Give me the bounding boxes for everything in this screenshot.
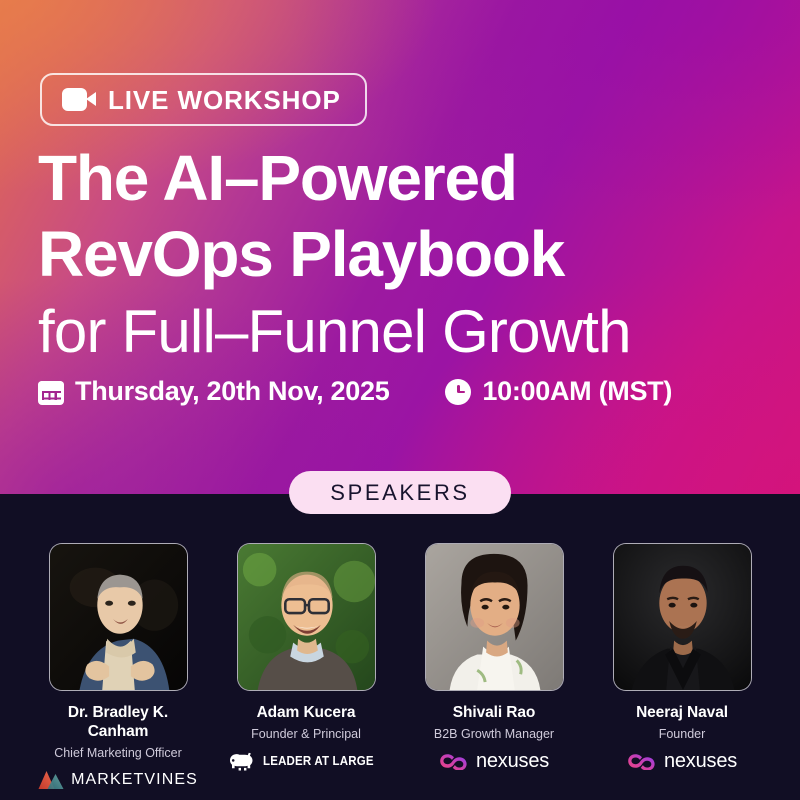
title-line-1: The AI–Powered: [38, 140, 631, 216]
speaker-name-4: Neeraj Naval: [636, 703, 728, 722]
speaker-company-logo-2: LEADER AT LARGE: [229, 749, 383, 773]
man-in-blue-blazer-speaking-image: [50, 544, 187, 690]
webinar-promo-poster: LIVE WORKSHOP The AI–Powered RevOps Play…: [0, 0, 800, 800]
event-time-label: 10:00AM (MST): [482, 378, 672, 405]
speaker-company-name-4: nexuses: [664, 751, 737, 771]
speaker-company-logo-3: nexuses: [439, 749, 549, 773]
speaker-name-3: Shivali Rao: [453, 703, 535, 722]
marketvines-mountain-icon: [38, 770, 64, 790]
speaker-company-name-2: LEADER AT LARGE: [263, 755, 374, 768]
infinity-icon: [627, 752, 657, 770]
elephant-icon: [229, 752, 256, 771]
speaker-role-4: Founder: [659, 726, 706, 742]
speaker-company-logo-1: MARKETVINES: [38, 768, 198, 792]
speaker-photo-2: [237, 543, 376, 691]
speaker-company-name-3: nexuses: [476, 751, 549, 771]
event-time: 10:00AM (MST): [445, 378, 672, 405]
speaker-company-logo-4: nexuses: [627, 749, 737, 773]
live-workshop-badge: LIVE WORKSHOP: [40, 73, 367, 126]
speaker-company-name-1: MARKETVINES: [71, 772, 198, 788]
speaker-card-1: Dr. Bradley K. Canham Chief Marketing Of…: [49, 543, 188, 792]
clock-icon: [445, 379, 471, 405]
event-date: Thursday, 20th Nov, 2025: [38, 378, 389, 405]
speaker-role-1: Chief Marketing Officer: [54, 745, 182, 761]
speaker-name-1: Dr. Bradley K. Canham: [49, 703, 188, 741]
speakers-pill: SPEAKERS: [289, 471, 511, 514]
speaker-photo-4: [613, 543, 752, 691]
speaker-card-4: Neeraj Naval Founder nexuses: [613, 543, 752, 792]
title-line-3: for Full–Funnel Growth: [38, 296, 631, 368]
infinity-icon: [439, 752, 469, 770]
speaker-photo-1: [49, 543, 188, 691]
speaker-role-2: Founder & Principal: [251, 726, 361, 742]
title-line-2: RevOps Playbook: [38, 216, 631, 292]
man-in-black-jacket-dark-background-image: [614, 544, 751, 690]
speaker-role-3: B2B Growth Manager: [434, 726, 554, 742]
speaker-card-2: Adam Kucera Founder & Principal LEADER A…: [237, 543, 376, 792]
calendar-icon: [38, 379, 64, 405]
page-title: The AI–Powered RevOps Playbook for Full–…: [38, 140, 631, 368]
video-camera-icon: [62, 88, 96, 111]
speaker-name-2: Adam Kucera: [257, 703, 356, 722]
smiling-woman-in-floral-shirt-image: [426, 544, 563, 690]
event-meta-row: Thursday, 20th Nov, 2025 10:00AM (MST): [38, 378, 672, 405]
smiling-man-with-glasses-outdoors-image: [238, 544, 375, 690]
live-workshop-label: LIVE WORKSHOP: [108, 87, 341, 113]
event-date-label: Thursday, 20th Nov, 2025: [75, 378, 389, 405]
speakers-list: Dr. Bradley K. Canham Chief Marketing Of…: [0, 543, 800, 792]
speaker-photo-3: [425, 543, 564, 691]
speaker-card-3: Shivali Rao B2B Growth Manager nexuses: [425, 543, 564, 792]
speakers-pill-label: SPEAKERS: [330, 482, 469, 504]
